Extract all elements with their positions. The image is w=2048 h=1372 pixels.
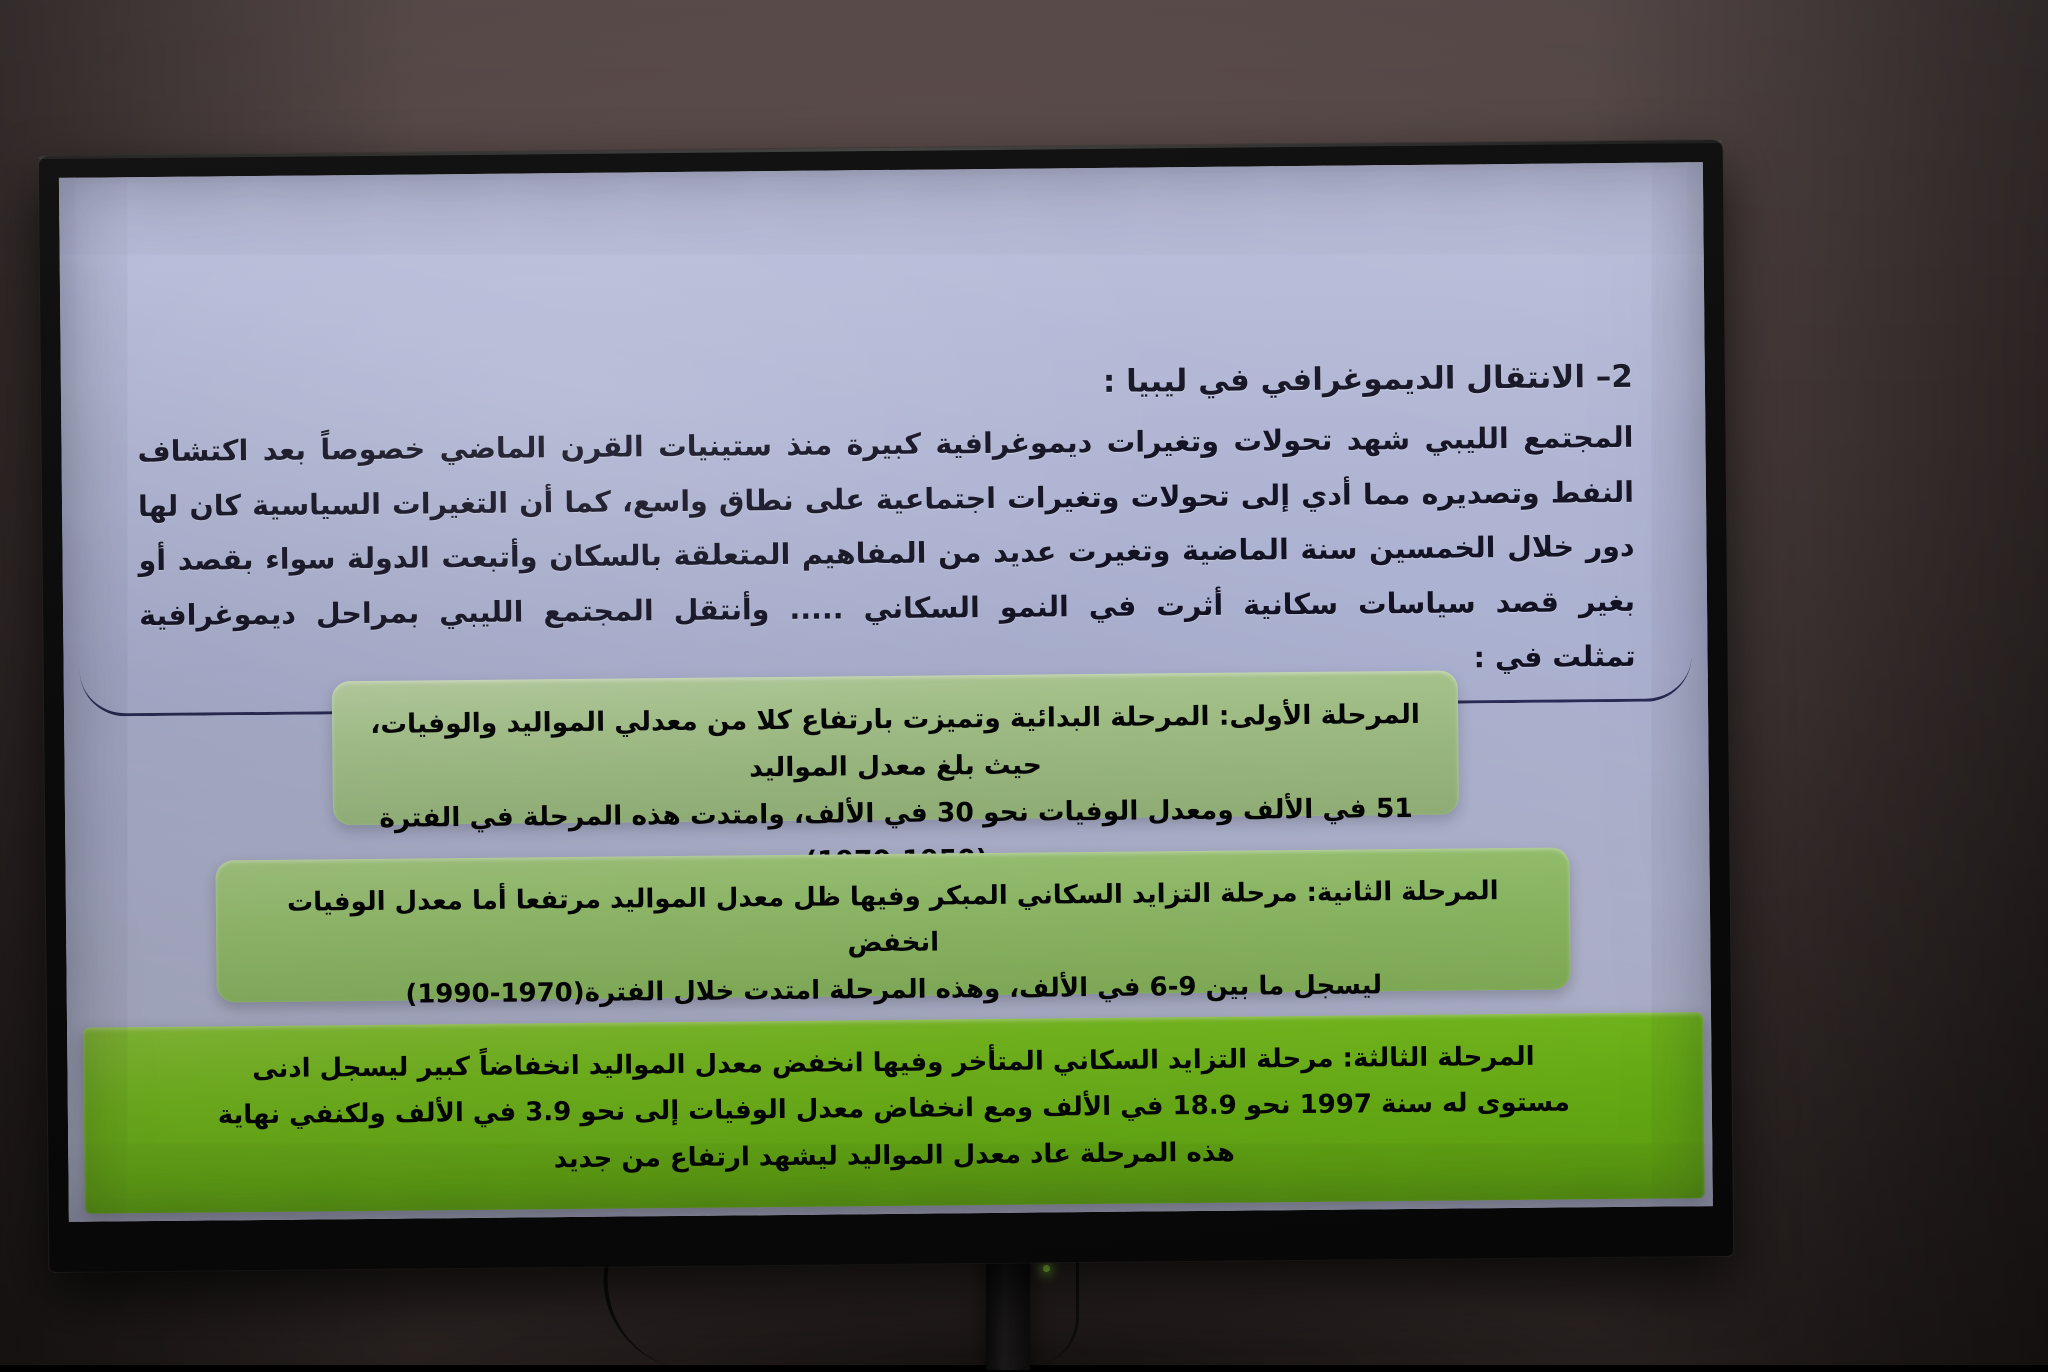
stage-1-line-1: المرحلة الأولى: المرحلة البدائية وتميزت …: [366, 691, 1425, 795]
monitor-stand-neck: [986, 1252, 1030, 1370]
slide-body-paragraph: المجتمع الليبي شهد تحولات وتغيرات ديموغر…: [137, 411, 1636, 699]
computer-monitor: 2– الانتقال الديموغرافي في ليبيا : المجت…: [39, 140, 1734, 1272]
monitor-screen[interactable]: 2– الانتقال الديموغرافي في ليبيا : المجت…: [59, 162, 1713, 1222]
stage-box-1: المرحلة الأولى: المرحلة البدائية وتميزت …: [332, 671, 1459, 826]
stage-box-3: المرحلة الثالثة: مرحلة التزايد السكاني ا…: [83, 1012, 1705, 1214]
presentation-slide: 2– الانتقال الديموغرافي في ليبيا : المجت…: [59, 162, 1713, 1222]
stage-2-line-1: المرحلة الثانية: مرحلة التزايد السكاني ا…: [250, 868, 1537, 973]
stage-box-2: المرحلة الثانية: مرحلة التزايد السكاني ا…: [215, 847, 1570, 1002]
slide-title: 2– الانتقال الديموغرافي في ليبيا :: [1103, 359, 1633, 400]
